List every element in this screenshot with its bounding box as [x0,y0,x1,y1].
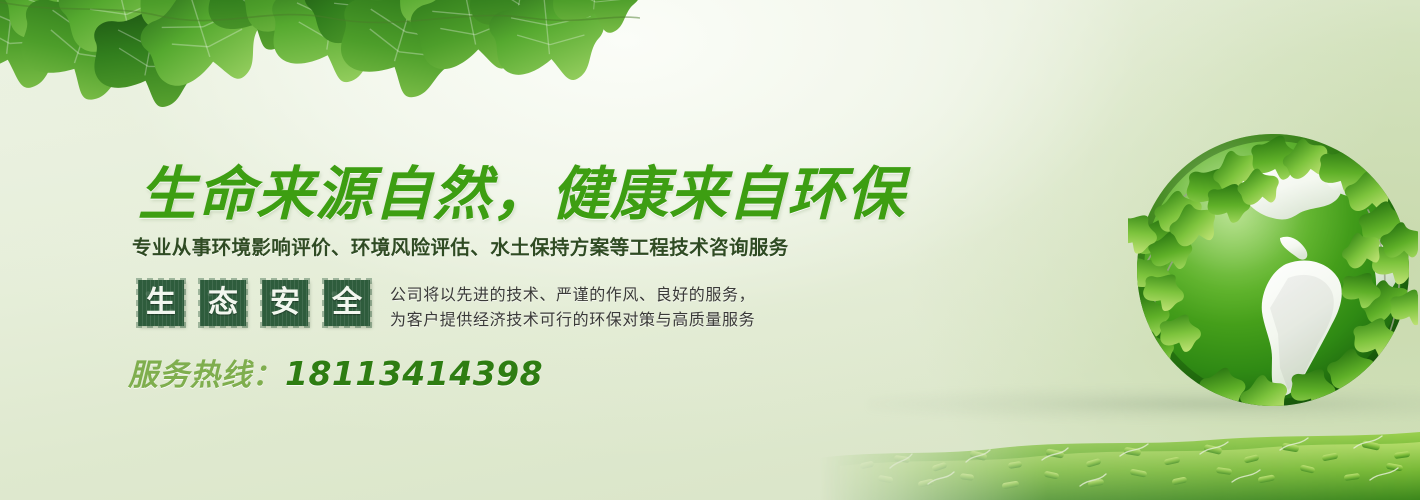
green-globe-icon [1128,128,1420,428]
stamp-char: 安 [270,288,300,318]
stamp-group: 生 态 安 全 [138,280,370,326]
stamp-char: 生 [146,288,176,318]
hotline-number: 18113414398 [285,354,543,393]
grass-bed-icon [820,404,1420,500]
description-line: 公司将以先进的技术、严谨的作风、良好的服务， [390,283,755,308]
page-title: 生命来源自然，健康来自环保 [138,163,905,225]
eco-hero-banner: 生命来源自然，健康来自环保 专业从事环境影响评价、环境风险评估、水土保持方案等工… [0,0,1420,500]
stamp-box: 安 [262,280,308,326]
service-hotline: 服务热线： 18113414398 [128,350,543,394]
stamp-char: 态 [208,288,238,318]
stamp-box: 态 [200,280,246,326]
banner-subtitle: 专业从事环境影响评价、环境风险评估、水土保持方案等工程技术咨询服务 [132,236,789,260]
banner-content: 生命来源自然，健康来自环保 专业从事环境影响评价、环境风险评估、水土保持方案等工… [0,0,900,500]
hotline-label: 服务热线： [128,350,283,394]
stamp-box: 全 [324,280,370,326]
stamp-box: 生 [138,280,184,326]
description-line: 为客户提供经济技术可行的环保对策与高质量服务 [390,308,755,333]
banner-description: 公司将以先进的技术、严谨的作风、良好的服务， 为客户提供经济技术可行的环保对策与… [390,283,755,333]
stamp-char: 全 [332,288,362,318]
